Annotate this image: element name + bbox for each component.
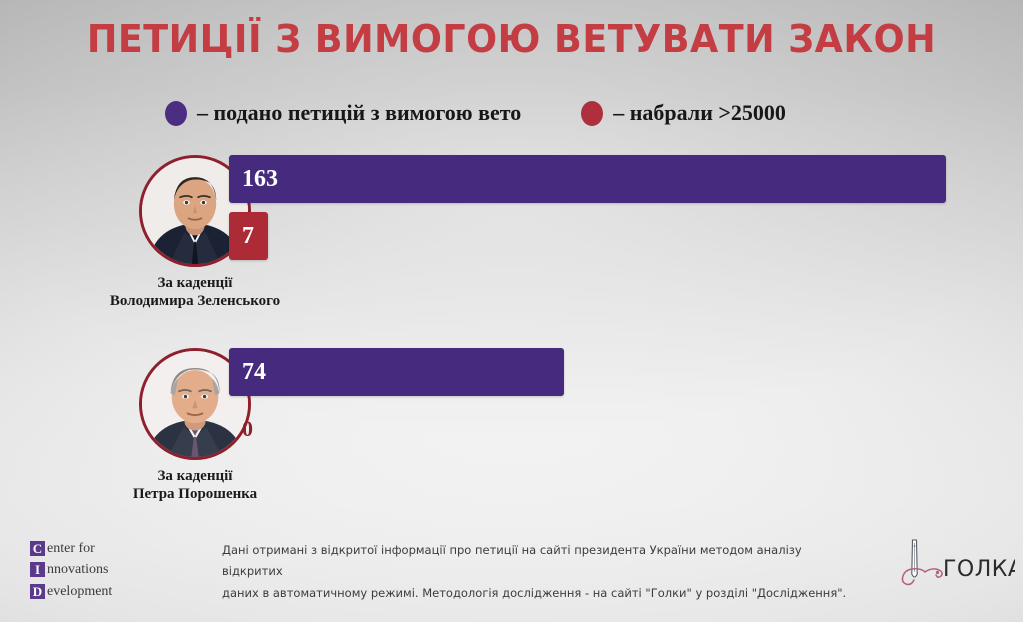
cid-logo: C enter for I nnovations D evelopment [30, 538, 112, 602]
purple-dot-icon [165, 101, 187, 126]
caption-poroshenko: За каденції Петра Порошенка [85, 467, 305, 504]
needle-icon [912, 540, 917, 577]
thread-dot-icon [936, 571, 939, 574]
bar-value-submitted-zelensky: 163 [242, 166, 278, 193]
bars-zelensky: 163 7 [229, 155, 946, 260]
disclaimer-line2: даних в автоматичному режимі. Методологі… [222, 583, 862, 604]
bar-spacer [229, 396, 564, 405]
footer: C enter for I nnovations D evelopment Да… [0, 530, 1023, 622]
caption-zelensky: За каденції Володимира Зеленського [85, 274, 305, 311]
caption-poroshenko-line1: За каденції [85, 467, 305, 485]
bar-submitted-poroshenko[interactable]: 74 [229, 348, 564, 396]
caption-zelensky-line1: За каденції [85, 274, 305, 292]
caption-poroshenko-line2: Петра Порошенка [85, 485, 305, 503]
cid-logo-text-innovations: nnovations [47, 559, 108, 580]
cid-logo-text-center: enter for [47, 538, 95, 559]
disclaimer-line1: Дані отримані з відкритої інформації про… [222, 540, 862, 583]
cid-logo-cap-d: D [30, 584, 45, 599]
golka-logo-text: ГОЛКА [943, 557, 1015, 582]
cid-logo-line3: D evelopment [30, 581, 112, 602]
caption-zelensky-line2: Володимира Зеленського [85, 292, 305, 310]
bar-spacer [229, 203, 946, 212]
cid-logo-cap-c: C [30, 541, 45, 556]
red-dot-icon [581, 101, 603, 126]
bar-value-reached-poroshenko: 0 [229, 405, 564, 453]
bar-value-submitted-poroshenko: 74 [242, 359, 266, 386]
legend-item-submitted: – подано петицій з вимогою вето [165, 100, 521, 126]
golka-logo: ГОЛКА [895, 534, 1015, 592]
legend-label-reached: – набрали >25000 [613, 100, 786, 126]
chart-legend: – подано петицій з вимогою вето – набрал… [165, 100, 786, 126]
cid-logo-text-development: evelopment [47, 581, 112, 602]
thread-icon [902, 569, 942, 585]
page-title: ПЕТИЦІЇ З ВИМОГОЮ ВЕТУВАТИ ЗАКОН [20, 17, 1002, 61]
disclaimer-text: Дані отримані з відкритої інформації про… [222, 540, 862, 604]
cid-logo-line2: I nnovations [30, 559, 112, 580]
cid-logo-cap-i: I [30, 562, 45, 577]
bar-value-reached-zelensky: 7 [242, 223, 254, 250]
bar-submitted-zelensky[interactable]: 163 [229, 155, 946, 203]
bar-reached-zelensky[interactable]: 7 [229, 212, 268, 260]
bars-poroshenko: 74 0 [229, 348, 564, 453]
cid-logo-line1: C enter for [30, 538, 112, 559]
legend-label-submitted: – подано петицій з вимогою вето [197, 100, 521, 126]
legend-item-reached: – набрали >25000 [581, 100, 786, 126]
infographic-canvas: ПЕТИЦІЇ З ВИМОГОЮ ВЕТУВАТИ ЗАКОН – подан… [0, 0, 1023, 622]
